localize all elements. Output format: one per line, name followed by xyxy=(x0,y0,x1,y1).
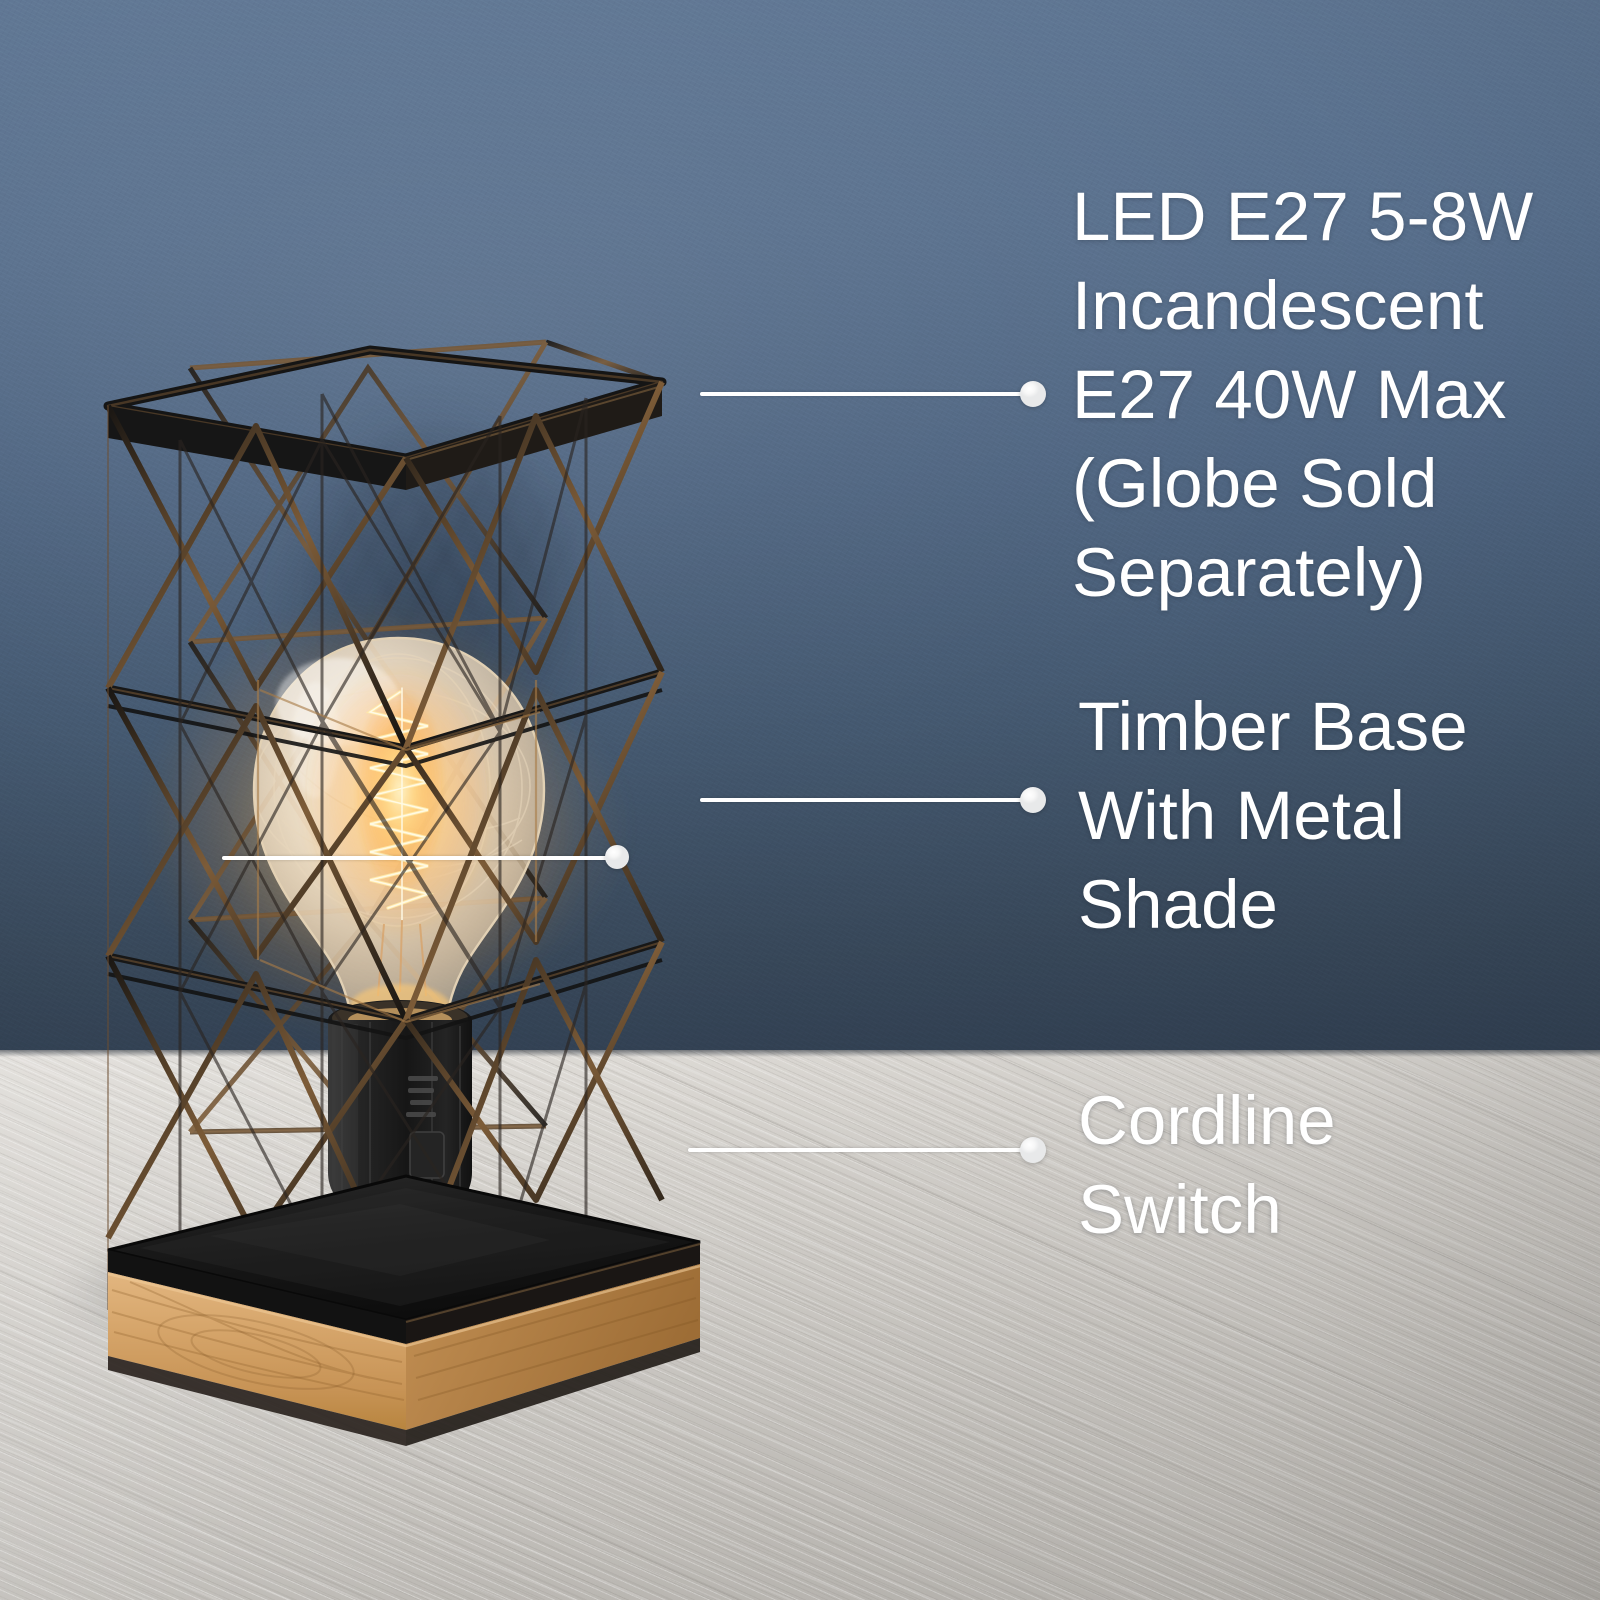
callout-dot-bulb-spec[interactable] xyxy=(1020,381,1046,407)
infographic-canvas: LED E27 5-8W Incandescent E27 40W Max (G… xyxy=(0,0,1600,1600)
feature-line: Incandescent xyxy=(1072,261,1592,350)
callout-line-bulb-spec xyxy=(700,392,1035,396)
callout-dot-materials[interactable] xyxy=(1020,787,1046,813)
feature-line: Timber Base xyxy=(1078,682,1528,771)
feature-text-switch-type: Cordline Switch xyxy=(1078,1076,1518,1254)
feature-line: Shade xyxy=(1078,860,1528,949)
callout-line-bulb-pointer xyxy=(222,856,620,860)
feature-line: Separately) xyxy=(1072,528,1592,617)
feature-line: Cordline xyxy=(1078,1076,1518,1165)
feature-line: LED E27 5-8W xyxy=(1072,172,1592,261)
callout-dot-bulb-pointer[interactable] xyxy=(605,845,629,869)
feature-line: E27 40W Max xyxy=(1072,350,1592,439)
feature-text-materials: Timber Base With Metal Shade xyxy=(1078,682,1528,949)
table-lamp xyxy=(70,320,730,1330)
feature-line: With Metal xyxy=(1078,771,1528,860)
callout-line-switch xyxy=(688,1148,1035,1152)
feature-line: Switch xyxy=(1078,1165,1518,1254)
feature-text-bulb-specification: LED E27 5-8W Incandescent E27 40W Max (G… xyxy=(1072,172,1592,617)
feature-line: (Globe Sold xyxy=(1072,439,1592,528)
callout-line-materials xyxy=(700,798,1035,802)
callout-dot-switch[interactable] xyxy=(1020,1137,1046,1163)
